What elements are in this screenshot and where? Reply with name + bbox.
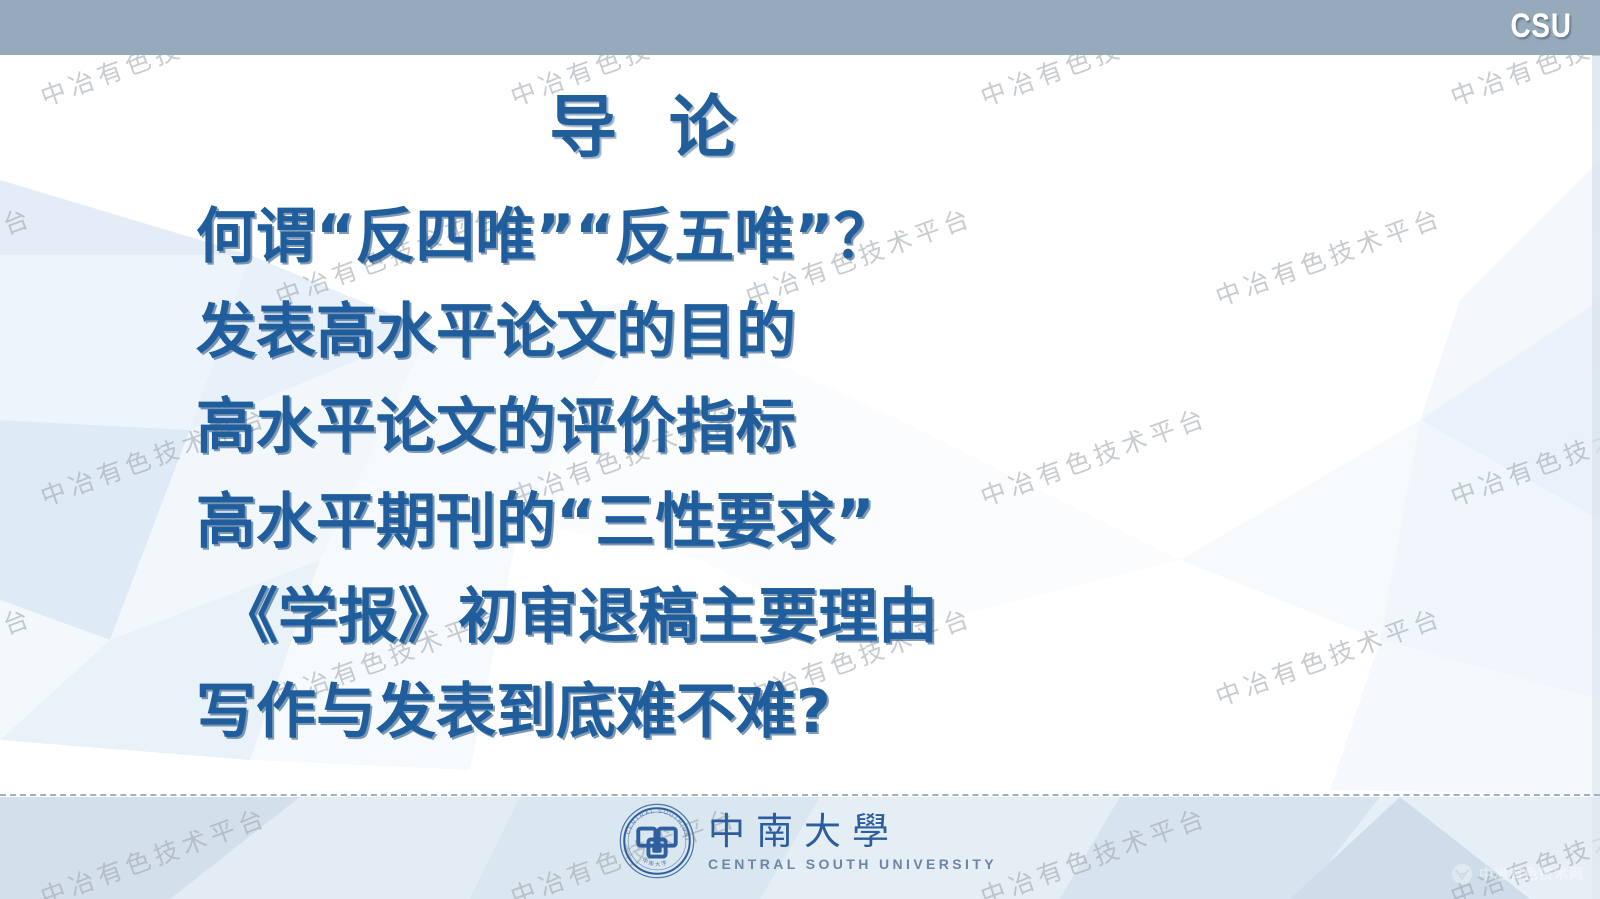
csu-seal-icon: CENTRAL SOUTH UNIVERSITY 中南大学	[618, 802, 696, 880]
header-band	[0, 0, 1600, 55]
outline-line: 高水平期刊的“三性要求”	[196, 475, 1296, 570]
university-name-en: CENTRAL SOUTH UNIVERSITY	[708, 855, 997, 873]
outline-list: 何谓“反四唯”“反五唯”？发表高水平论文的目的高水平论文的评价指标高水平期刊的“…	[196, 190, 1296, 760]
platform-badge: 中冶有色技术网	[1451, 863, 1584, 885]
outline-line: 发表高水平论文的目的	[196, 285, 1296, 380]
outline-line: 高水平论文的评价指标	[196, 380, 1296, 475]
slide-canvas: 中冶有色技术平台中冶有色技术平台中冶有色技术平台中冶有色技术平台中冶有色技术平台…	[0, 0, 1600, 899]
outline-line: 《学报》初审退稿主要理由	[196, 570, 1296, 665]
right-edge-strip	[1592, 0, 1600, 899]
university-name-cn: 中南大學	[708, 810, 997, 854]
footer-divider	[0, 794, 1600, 796]
university-logo: CENTRAL SOUTH UNIVERSITY 中南大学 中南大學 CENTR…	[618, 802, 997, 880]
platform-badge-label: 中冶有色技术网	[1479, 864, 1584, 884]
university-name-block: 中南大學 CENTRAL SOUTH UNIVERSITY	[708, 810, 997, 873]
csu-wordmark-logo: CSU	[1511, 7, 1572, 46]
outline-line: 写作与发表到底难不难?	[196, 665, 1296, 760]
outline-line: 何谓“反四唯”“反五唯”？	[196, 190, 1296, 285]
slide-title: 导 论	[0, 72, 1300, 171]
platform-badge-icon	[1451, 863, 1473, 885]
